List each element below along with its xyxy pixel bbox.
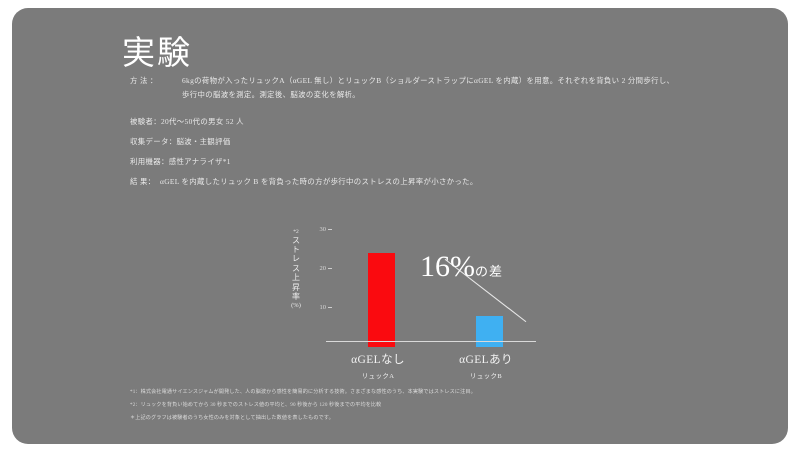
footnote-3: ＊上記のグラフは被験者のうち女性のみを対象として抽出した数値を表したものです。	[130, 414, 334, 421]
difference-value: 16%	[420, 250, 475, 283]
subjects-text: 被験者：20代～50代の男女 52 人	[130, 116, 244, 127]
y-tick-10: 10	[306, 304, 326, 311]
result-label: 結 果：	[130, 176, 155, 187]
slide-canvas: 実験 方 法 ： 6kgの荷物が入ったリュックA（αGEL 無し）とリュックB（…	[12, 8, 788, 444]
method-text-line2: 歩行中の脳波を測定。測定後、脳波の変化を解析。	[182, 89, 360, 100]
y-axis-label: *2 ストレス上昇率 (%)	[288, 230, 304, 309]
difference-annotation: 16%の差	[420, 250, 503, 284]
x-label-sub: リュックB	[434, 370, 538, 380]
x-label-sub: リュックA	[326, 370, 430, 380]
collected-data-text: 収集データ：脳波・主観評価	[130, 136, 231, 147]
footnote-1: *1：株式会社電通サイエンスジャムが開発した、人の脳波から感性を簡易的に分析する…	[130, 388, 476, 395]
y-tick-20: 20	[306, 265, 326, 272]
y-tick-30: 30	[306, 226, 326, 233]
plot-area	[334, 222, 534, 347]
stress-increase-bar-chart: *2 ストレス上昇率 (%) 30 20 10 16%の差 αGELなし リュッ…	[284, 216, 542, 381]
y-axis-unit: (%)	[288, 302, 304, 310]
difference-suffix: の差	[475, 264, 503, 279]
x-label-main: αGELあり	[434, 351, 538, 367]
page-title: 実験	[122, 26, 192, 74]
device-text: 利用機器：感性アナライザ*1	[130, 156, 231, 167]
method-text-line1: 6kgの荷物が入ったリュックA（αGEL 無し）とリュックB（ショルダーストラッ…	[182, 75, 674, 86]
x-label-agel-none: αGELなし リュックA	[326, 351, 430, 380]
x-label-main: αGELなし	[326, 351, 430, 367]
bar-agel-none	[368, 253, 395, 347]
x-label-agel-yes: αGELあり リュックB	[434, 351, 538, 380]
x-axis-line	[326, 341, 536, 342]
result-text: αGEL を内蔵したリュック B を背負った時の方が歩行中のストレスの上昇率が小…	[160, 176, 478, 187]
method-label: 方 法 ：	[130, 75, 158, 86]
footnote-2: *2：リュックを背負い始めてから 30 秒までのストレス値の平均と、90 秒後か…	[130, 401, 381, 408]
